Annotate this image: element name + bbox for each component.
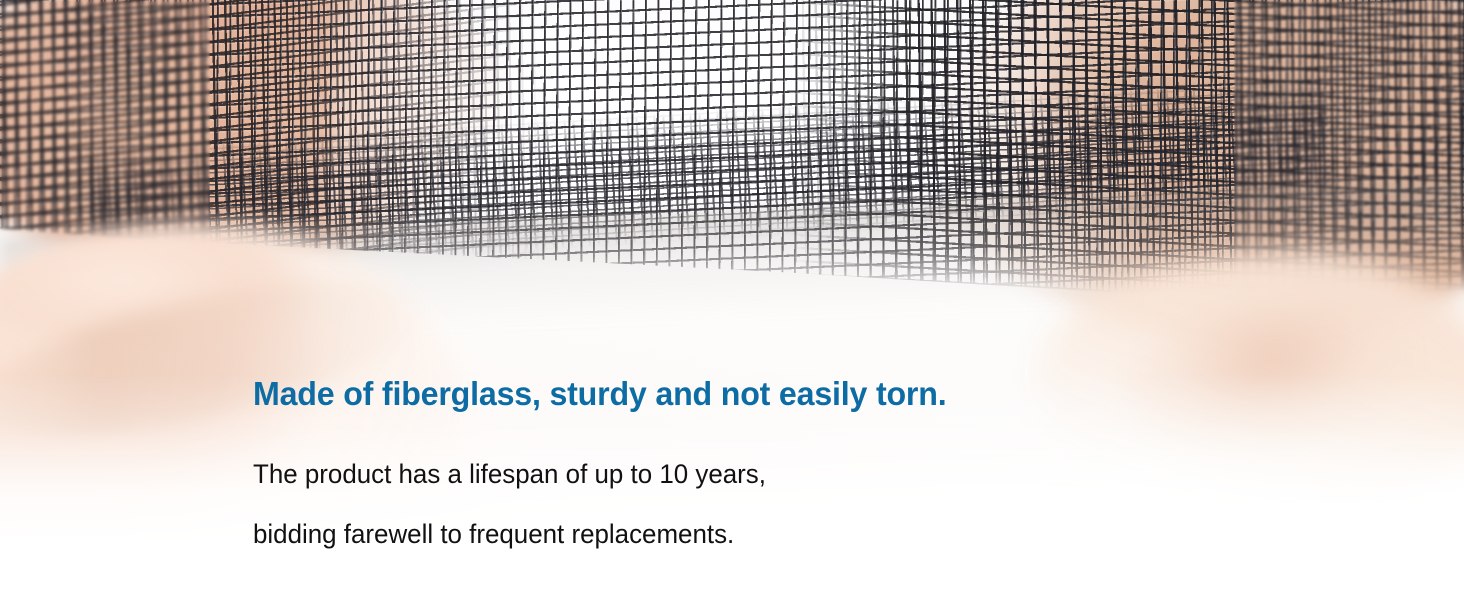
- feature-body-line-1: The product has a lifespan of up to 10 y…: [253, 458, 1213, 490]
- feature-body-line-2: bidding farewell to frequent replacement…: [253, 518, 1213, 550]
- banner-root: Made of fiberglass, sturdy and not easil…: [0, 0, 1464, 600]
- feature-headline: Made of fiberglass, sturdy and not easil…: [253, 374, 1228, 414]
- caption-block: Made of fiberglass, sturdy and not easil…: [253, 374, 1253, 550]
